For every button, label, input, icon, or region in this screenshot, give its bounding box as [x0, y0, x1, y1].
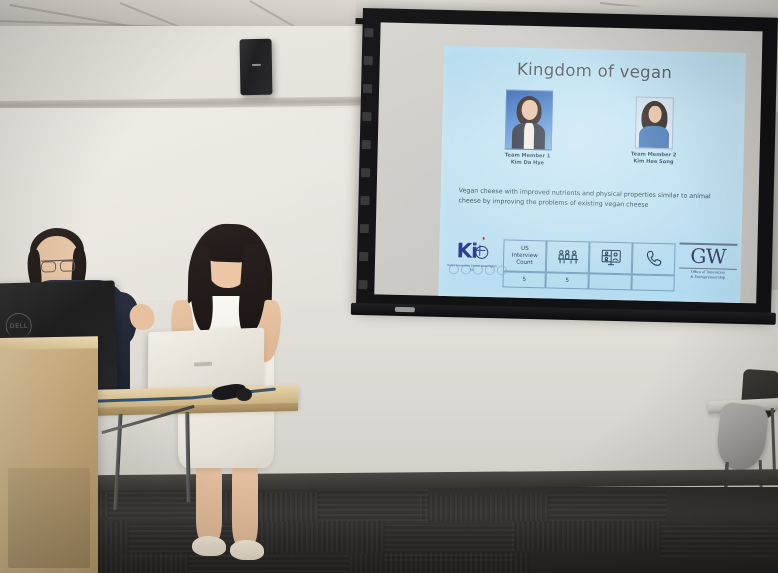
presenter2-shoe-left: [192, 536, 226, 556]
laptop-badge: [194, 362, 212, 367]
cable-coil: [236, 388, 252, 401]
slide-title: Kingdom of vegan: [443, 58, 745, 84]
team-member-2-name: Kim Hee Song: [633, 159, 673, 166]
wooden-podium: [0, 338, 98, 573]
team-member-1: Team Member 1 Kim Da Hye: [487, 89, 569, 168]
slide: Kingdom of vegan Team Member 1 Kim Da Hy…: [438, 46, 746, 303]
phone-call-icon: [631, 242, 675, 276]
podium-top: [0, 336, 98, 350]
table-header-us-interview-count: USInterviewCount: [502, 239, 546, 273]
team-member-1-label: Team Member 1 Kim Da Hye: [487, 152, 567, 168]
team-member-1-name: Kim Da Hye: [511, 160, 544, 167]
kic-dot-icon: [482, 237, 485, 240]
media-controls[interactable]: [449, 264, 507, 275]
projection-screen: Kingdom of vegan Team Member 1 Kim Da Hy…: [356, 8, 778, 318]
team-member-2-role: Team Member 2: [631, 151, 677, 158]
globe-icon: [475, 246, 488, 259]
team-member-1-role: Team Member 1: [505, 152, 551, 159]
speaker-grill: [252, 64, 261, 66]
podium-panel: [8, 468, 90, 568]
team-member-1-photo: [504, 89, 552, 150]
kic-wordmark: Ki: [456, 240, 488, 261]
presentation-photo: Kingdom of vegan Team Member 1 Kim Da Hy…: [0, 0, 778, 573]
table-cell-value-0: 5: [502, 271, 546, 289]
in-person-meeting-icon: [545, 240, 589, 274]
table-value-row: 5 5: [502, 271, 674, 291]
presenter2-shoe-right: [230, 540, 264, 560]
pen-icon[interactable]: [473, 265, 483, 275]
interview-count-table: USInterviewCount: [502, 239, 675, 291]
slide-body-text: Vegan cheese with improved nutrients and…: [458, 186, 724, 211]
gw-wordmark: GW: [679, 245, 737, 267]
screen-surface: Kingdom of vegan Team Member 1 Kim Da Hy…: [374, 22, 762, 303]
table-cell-value-1: 5: [545, 272, 589, 290]
gw-sub-line2: & Entrepreneurship: [679, 274, 737, 280]
prev-icon[interactable]: [449, 264, 459, 274]
menu-icon[interactable]: [485, 265, 495, 275]
eyeglasses-icon: [41, 259, 75, 270]
team-member-2-label: Team Member 2 Kim Hee Song: [613, 151, 693, 167]
kic-logo: Ki Korea Innovation Center Washington DC: [445, 240, 500, 272]
table-cell-value-3: [631, 274, 675, 292]
table-cell-value-2: [588, 273, 632, 291]
slide-footer: Ki Korea Innovation Center Washington DC: [438, 234, 741, 299]
wall-speaker-icon: [240, 39, 273, 96]
play-icon[interactable]: [461, 264, 471, 274]
video-call-icon: [588, 241, 632, 275]
table-header-row: USInterviewCount: [503, 239, 676, 275]
team-member-2-photo: [635, 96, 674, 149]
team-member-2: Team Member 2 Kim Hee Song: [613, 96, 695, 167]
gw-logo: GW Office of Innovation & Entrepreneursh…: [679, 242, 738, 281]
